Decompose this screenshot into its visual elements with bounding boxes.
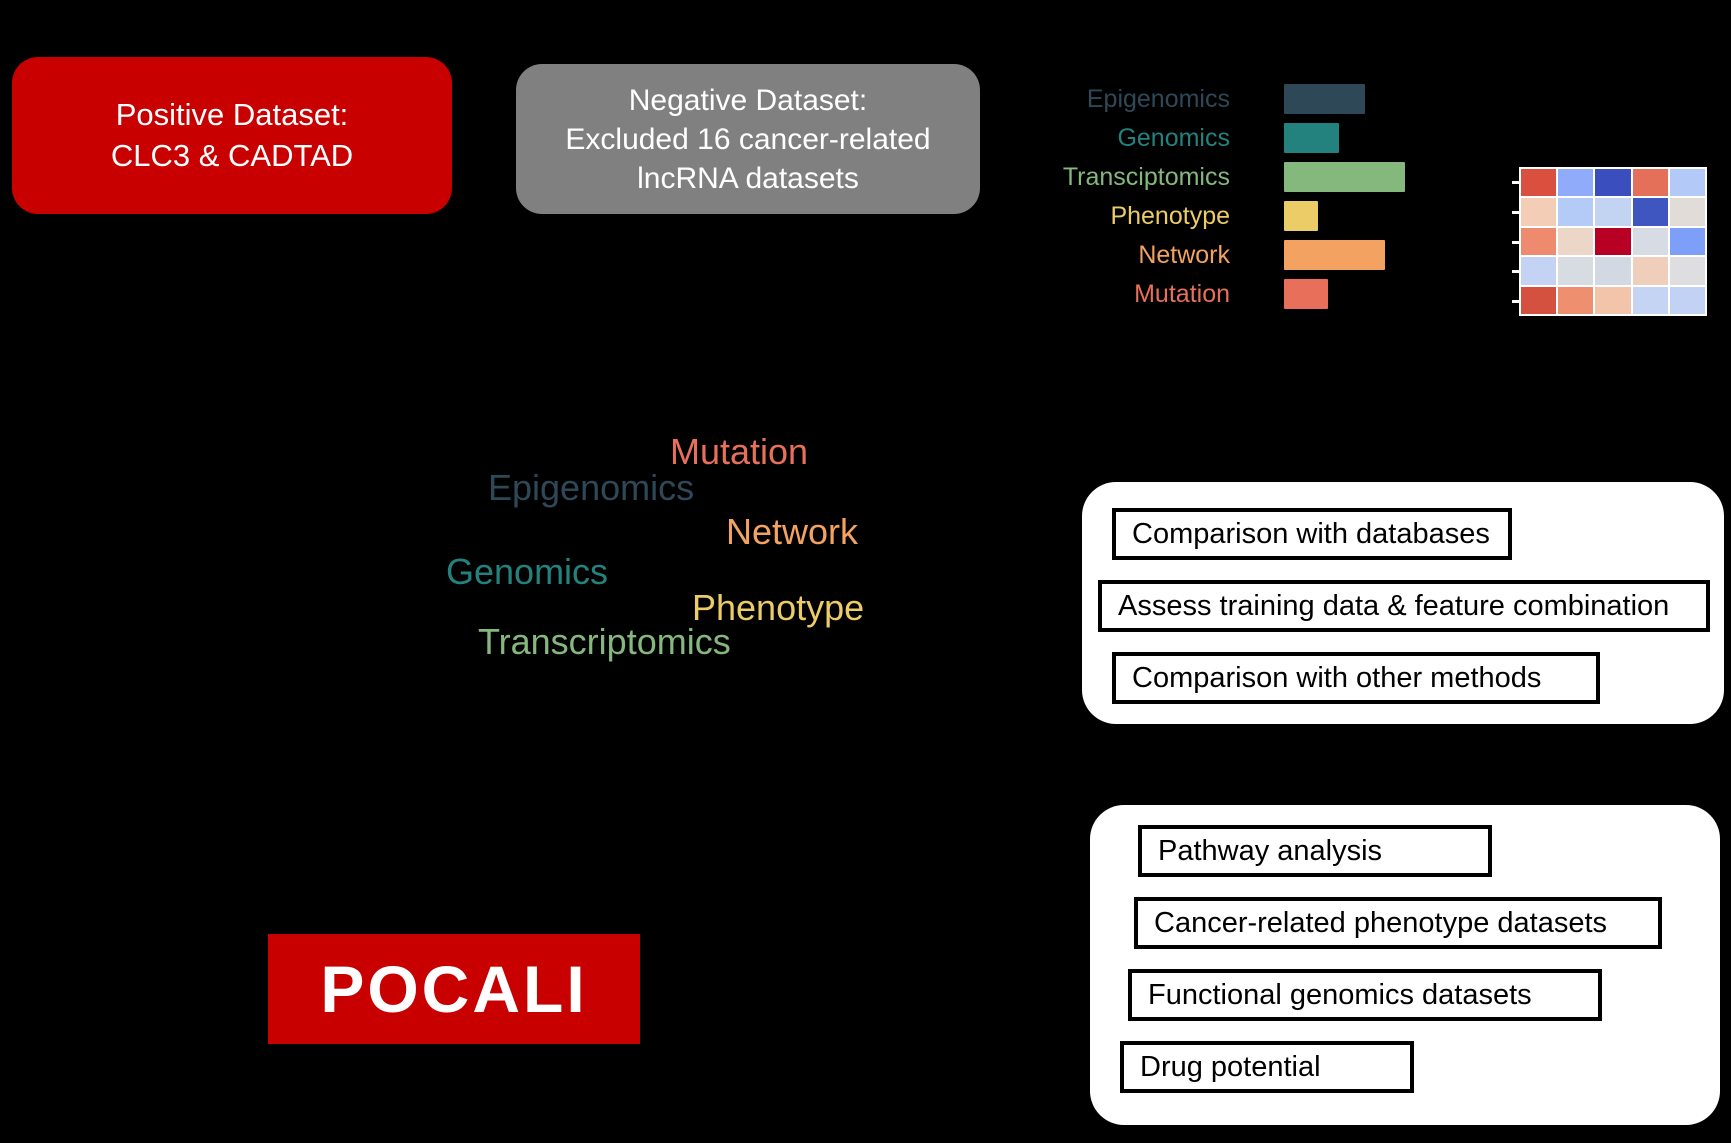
bar-rect xyxy=(1284,240,1385,270)
heatmap-cell xyxy=(1558,169,1593,196)
bar-category-label: Phenotype xyxy=(1110,201,1230,231)
bar-rect xyxy=(1284,123,1339,153)
heatmap-cell xyxy=(1633,169,1668,196)
heatmap-row-tick xyxy=(1512,211,1519,214)
bar-category-label: Network xyxy=(1138,240,1230,270)
heatmap-cell xyxy=(1633,257,1668,284)
heatmap-cell xyxy=(1670,169,1705,196)
heatmap-row-tick xyxy=(1512,270,1519,273)
heatmap-row-tick xyxy=(1512,241,1519,244)
word-cloud-term: Genomics xyxy=(446,554,608,590)
application-item: Functional genomics datasets xyxy=(1128,969,1602,1021)
positive-dataset-box: Positive Dataset: CLC3 & CADTAD xyxy=(12,57,452,214)
correlation-heatmap xyxy=(1519,167,1707,316)
bar-category-label: Transciptomics xyxy=(1063,162,1230,192)
negative-dataset-label: Negative Dataset: Excluded 16 cancer-rel… xyxy=(565,81,930,198)
heatmap-cell xyxy=(1595,287,1630,314)
application-item: Cancer-related phenotype datasets xyxy=(1134,897,1662,949)
heatmap-cell xyxy=(1558,287,1593,314)
validation-item: Comparison with other methods xyxy=(1112,652,1600,704)
bar-rect xyxy=(1284,162,1405,192)
word-cloud-term: Transcriptomics xyxy=(478,624,731,660)
negative-dataset-box: Negative Dataset: Excluded 16 cancer-rel… xyxy=(516,64,980,214)
application-panel: Pathway analysisCancer-related phenotype… xyxy=(1090,805,1720,1125)
feature-importance-bar-chart: EpigenomicsGenomicsTransciptomicsPhenoty… xyxy=(1090,84,1420,332)
heatmap-cell xyxy=(1521,228,1556,255)
bar-category-label: Genomics xyxy=(1117,123,1230,153)
heatmap-cell xyxy=(1633,287,1668,314)
word-cloud-term: Epigenomics xyxy=(488,470,694,506)
validation-panel: Comparison with databasesAssess training… xyxy=(1082,482,1724,724)
heatmap-row-tick xyxy=(1512,300,1519,303)
heatmap-cell xyxy=(1595,228,1630,255)
bar-category-label: Epigenomics xyxy=(1087,84,1230,114)
pocali-logo-text: POCALI xyxy=(320,951,587,1027)
figure-canvas: Positive Dataset: CLC3 & CADTAD Negative… xyxy=(0,0,1731,1143)
bar-rect xyxy=(1284,201,1318,231)
bar-category-label: Mutation xyxy=(1134,279,1230,309)
heatmap-cell xyxy=(1595,198,1630,225)
application-item: Pathway analysis xyxy=(1138,825,1492,877)
word-cloud-term: Network xyxy=(726,514,858,550)
pocali-logo: POCALI xyxy=(268,934,640,1044)
heatmap-cell xyxy=(1670,287,1705,314)
positive-dataset-label: Positive Dataset: CLC3 & CADTAD xyxy=(111,95,353,176)
validation-item: Comparison with databases xyxy=(1112,508,1512,560)
heatmap-cell xyxy=(1558,257,1593,284)
heatmap-cell xyxy=(1595,169,1630,196)
bar-rect xyxy=(1284,84,1365,114)
application-item: Drug potential xyxy=(1120,1041,1414,1093)
heatmap-cell xyxy=(1670,198,1705,225)
heatmap-cell xyxy=(1558,228,1593,255)
bar-rect xyxy=(1284,279,1328,309)
heatmap-cell xyxy=(1595,257,1630,284)
validation-item: Assess training data & feature combinati… xyxy=(1098,580,1710,632)
heatmap-cell xyxy=(1670,257,1705,284)
word-cloud-term: Mutation xyxy=(670,434,808,470)
heatmap-cell xyxy=(1521,169,1556,196)
heatmap-cell xyxy=(1633,198,1668,225)
heatmap-row-tick xyxy=(1512,181,1519,184)
feature-word-cloud: MutationEpigenomicsNetworkGenomicsPhenot… xyxy=(430,420,910,680)
heatmap-cell xyxy=(1670,228,1705,255)
heatmap-cell xyxy=(1558,198,1593,225)
heatmap-cell xyxy=(1521,198,1556,225)
heatmap-cell xyxy=(1521,257,1556,284)
heatmap-cell xyxy=(1633,228,1668,255)
heatmap-cell xyxy=(1521,287,1556,314)
